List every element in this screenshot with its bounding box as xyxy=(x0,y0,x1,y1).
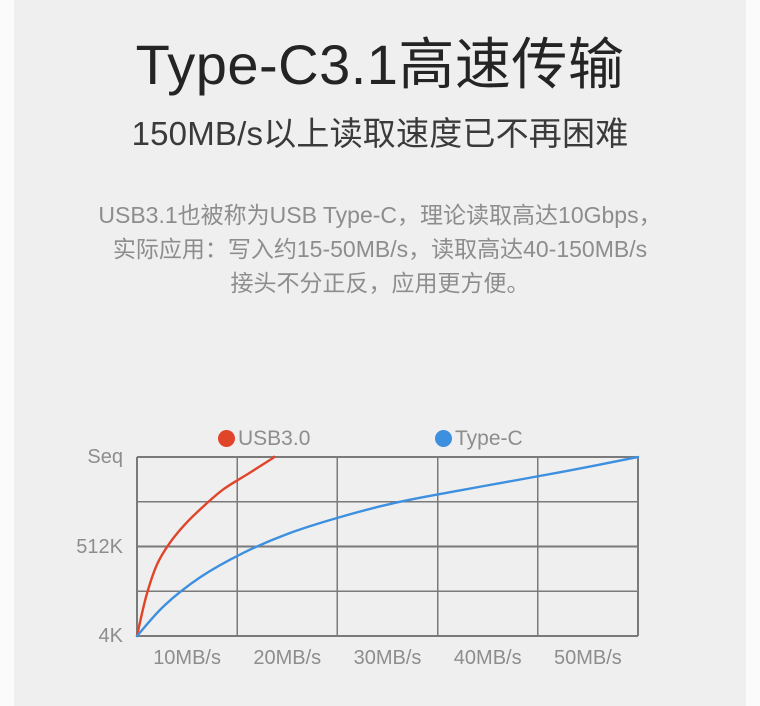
x-axis-tick-40: 40MB/s xyxy=(438,648,538,668)
x-axis-tick-30: 30MB/s xyxy=(337,648,437,668)
x-axis-tick-50: 50MB/s xyxy=(538,648,638,668)
speed-comparison-chart: USB3.0 Type-C Seq 512K 4K 10MB/s 20MB/s … xyxy=(14,0,746,706)
promo-page: Type-C3.1高速传输 150MB/s以上读取速度已不再困难 USB3.1也… xyxy=(0,0,760,706)
legend-item-usb30: USB3.0 xyxy=(218,428,310,449)
y-axis-tick-512k: 512K xyxy=(53,537,123,557)
y-axis-tick-4k: 4K xyxy=(53,626,123,646)
y-axis-tick-seq: Seq xyxy=(53,447,123,467)
chart-plot-area xyxy=(14,0,746,706)
legend-label-typec: Type-C xyxy=(455,428,523,449)
legend-dot-typec-icon xyxy=(435,430,452,447)
legend-label-usb30: USB3.0 xyxy=(238,428,310,449)
x-axis-tick-20: 20MB/s xyxy=(237,648,337,668)
legend-item-typec: Type-C xyxy=(435,428,523,449)
x-axis-tick-10: 10MB/s xyxy=(137,648,237,668)
legend-dot-usb30-icon xyxy=(218,430,235,447)
